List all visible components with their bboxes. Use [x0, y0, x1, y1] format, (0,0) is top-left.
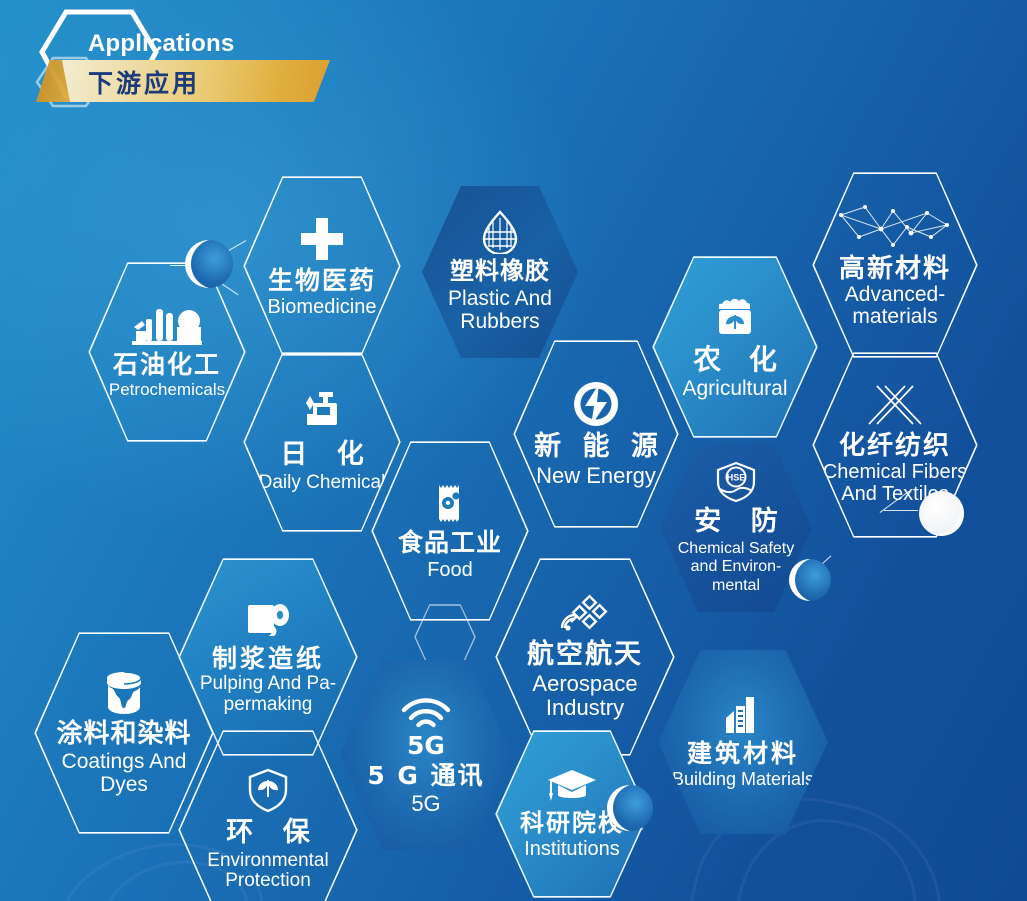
satellite-icon	[559, 594, 611, 636]
header-banner: Applications 下游应用	[0, 0, 380, 120]
hex-label-cn: 农 化	[662, 344, 808, 375]
crescent-highlight	[607, 785, 653, 831]
seed-bag-icon	[714, 294, 756, 338]
hex-label-cn: 环 保	[188, 818, 348, 848]
hex-label-en: Daily Chemical	[253, 473, 391, 494]
hex-label-cn: 食品工业	[381, 529, 519, 557]
hex-label-en: Biomedicine	[253, 296, 391, 318]
hex-label-en: Aerospace Industry	[505, 672, 665, 720]
hex-label-en: Pulping And Pa-permaking	[188, 674, 348, 714]
hex-cell-5g[interactable]: 5G 5 G 通讯 5G	[340, 660, 512, 850]
hex-label-en: Chemical Safety and Environ-mental	[670, 540, 802, 596]
hex-cell-food[interactable]: 食品工业 Food	[371, 441, 529, 621]
hex-label-en: Advanced-materials	[822, 284, 968, 327]
hex-cell-new-energy[interactable]: 新 能 源 New Energy	[513, 340, 679, 528]
hex-label-en: Petrochemicals	[98, 381, 236, 400]
decorative-dot-lower-right	[789, 559, 831, 601]
hex-label-en: Building Materials	[668, 770, 818, 790]
hex-label-en: Agricultural	[662, 377, 808, 400]
hex-cell-petrochemicals[interactable]: 石油化工 Petrochemicals	[88, 262, 246, 442]
hex-label-en: New Energy	[523, 464, 669, 488]
hex-label-cn: 石油化工	[98, 351, 236, 379]
hex-cell-plastic-rubbers[interactable]: 塑料橡胶 Plastic And Rubbers	[422, 186, 578, 358]
wifi-signal-icon	[399, 694, 453, 730]
food-packet-icon	[430, 481, 470, 525]
shield-leaf-icon	[247, 768, 289, 814]
decorative-dot-bottom-center	[607, 785, 653, 831]
hex-label-cn: 安 防	[670, 507, 802, 537]
hex-label-cn: 生物医药	[253, 267, 391, 295]
lightning-bolt-icon	[572, 380, 620, 428]
graduation-cap-icon	[546, 768, 598, 806]
hex-label-cn: 涂料和染料	[44, 720, 204, 749]
hex-cell-building-materials[interactable]: 建筑材料 Building Materials	[658, 650, 828, 834]
hex-label-cn: 新 能 源	[523, 432, 669, 462]
poster-canvas: Applications 下游应用	[0, 0, 1027, 901]
buildings-icon	[722, 694, 764, 736]
paper-roll-icon	[244, 599, 292, 641]
decorative-dot-right	[919, 491, 964, 536]
hex-cell-aerospace[interactable]: 航空航天 Aerospace Industry	[495, 558, 675, 756]
paint-bucket-icon	[101, 669, 147, 717]
hex-label-cn: 塑料橡胶	[432, 258, 568, 285]
crescent-highlight	[185, 240, 233, 288]
hex-label-en: Environmental Protection	[188, 851, 348, 892]
polymer-drop-icon	[480, 210, 520, 254]
header-english-title: Applications	[88, 30, 234, 58]
crescent-highlight	[919, 491, 964, 536]
hex-label-cn: 化纤纺织	[822, 432, 968, 461]
hex-label-en: Institutions	[505, 838, 639, 860]
medical-cross-icon	[298, 215, 346, 263]
hex-label-cn: 航空航天	[505, 640, 665, 670]
svg-text:HSE: HSE	[727, 472, 746, 482]
crescent-highlight	[789, 559, 831, 601]
hex-label-en: 5G	[350, 792, 502, 816]
hex-label-cn: 高新材料	[822, 255, 968, 284]
hex-cell-agricultural[interactable]: 农 化 Agricultural	[652, 256, 818, 438]
oil-refinery-icon	[130, 305, 204, 349]
hex-label-cn: 5 G 通讯	[350, 762, 502, 790]
hex-label-en: Coatings And Dyes	[44, 751, 204, 796]
decorative-dot-upper-left	[185, 240, 233, 288]
hex-label-cn: 制浆造纸	[188, 645, 348, 673]
header-chinese-title: 下游应用	[88, 64, 200, 100]
hex-label-en: Food	[381, 559, 519, 581]
hex-cell-biomedicine[interactable]: 生物医药 Biomedicine	[243, 176, 401, 356]
molecular-network-icon	[835, 203, 955, 253]
lotion-bottle-icon	[299, 390, 345, 434]
woven-mesh-icon	[867, 384, 923, 430]
hse-shield-icon: HSE	[714, 461, 758, 503]
hex-cell-daily-chemical[interactable]: 日 化 Daily Chemical	[243, 352, 401, 532]
hex-label-5g-small: 5G	[350, 732, 502, 760]
connector-line	[884, 510, 918, 511]
hex-label-en: Plastic And Rubbers	[432, 287, 568, 334]
hex-label-cn: 建筑材料	[668, 740, 818, 768]
hex-cell-environmental-protection[interactable]: 环 保 Environmental Protection	[178, 730, 358, 901]
hex-label-cn: 日 化	[253, 440, 391, 470]
hex-cell-advanced-materials[interactable]: 高新材料 Advanced-materials	[812, 172, 978, 358]
